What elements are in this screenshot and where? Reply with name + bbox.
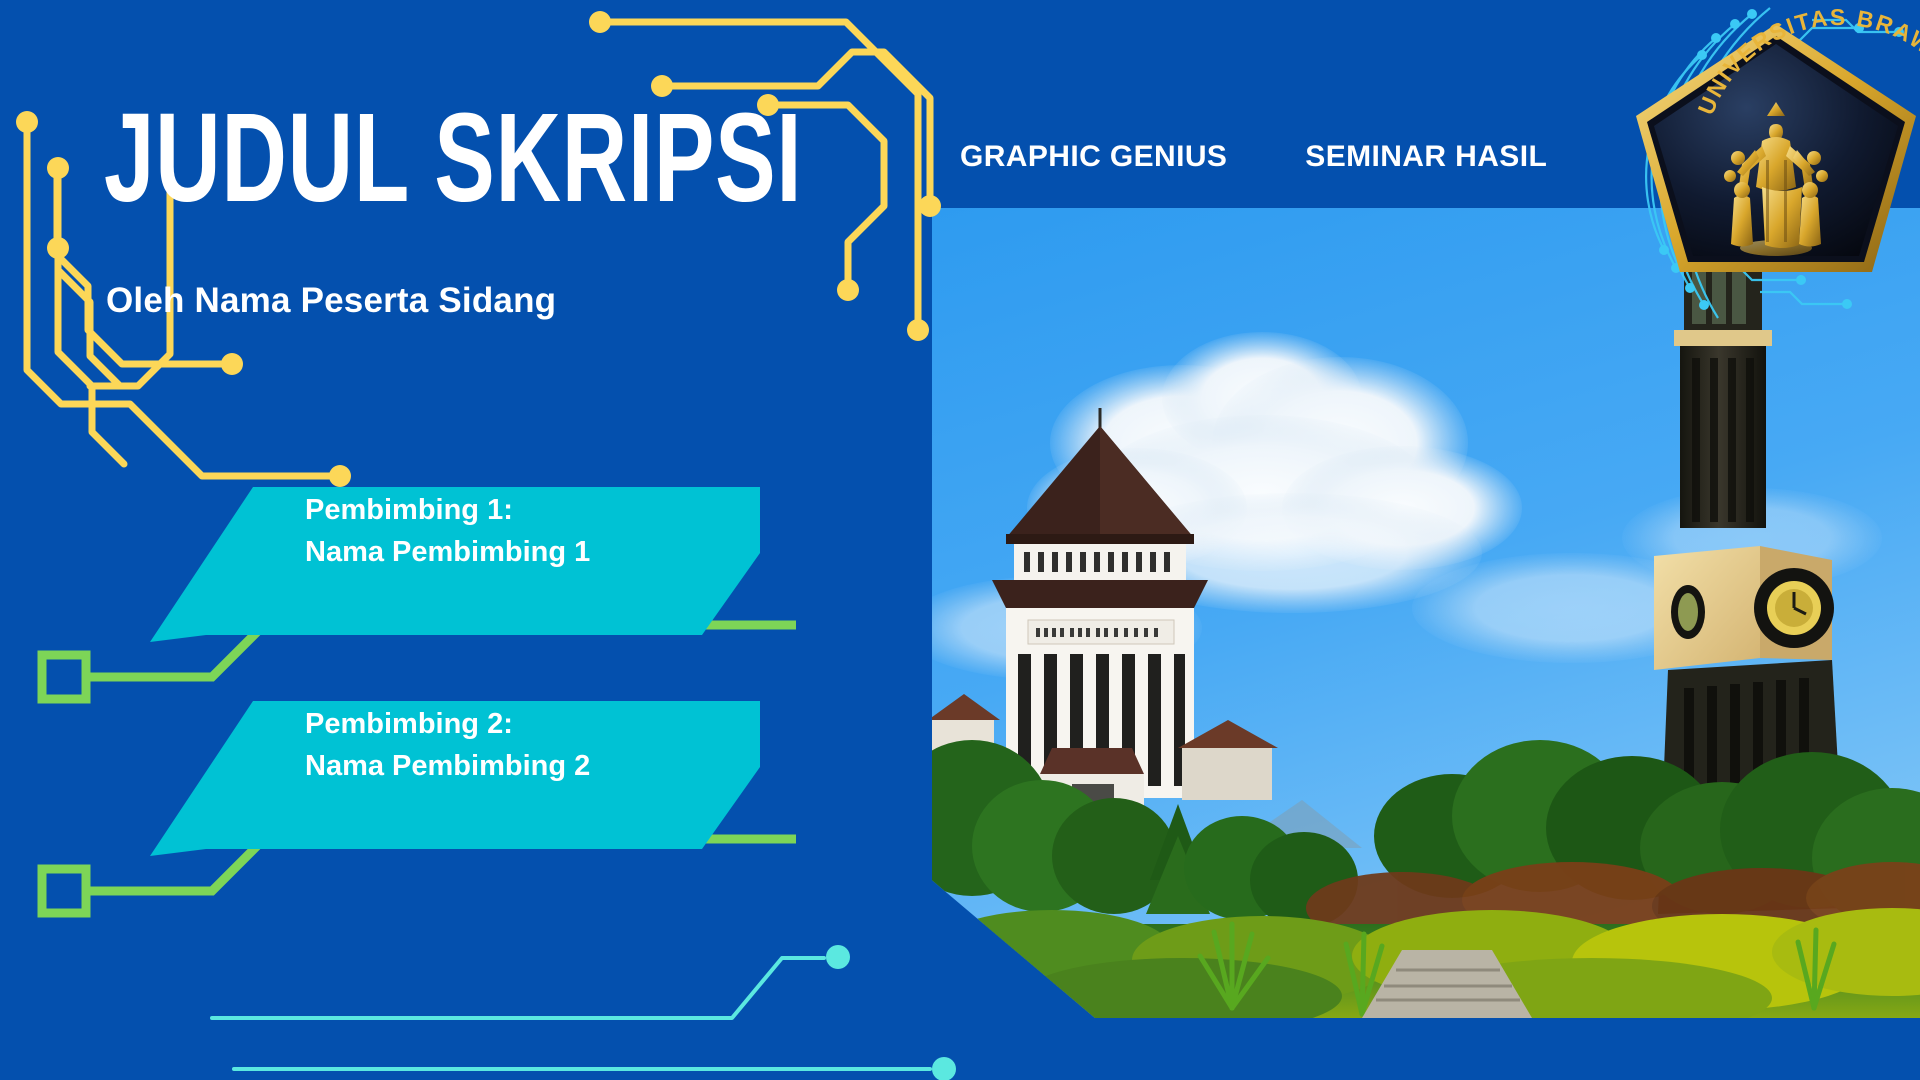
advisor-1-role: Pembimbing 1:	[305, 489, 590, 531]
advisor-2-name: Nama Pembimbing 2	[305, 745, 590, 787]
page-title: JUDUL SKRIPSI	[104, 100, 802, 216]
logo-arc-text: UNIVERSITAS BRAWIJAYA	[1693, 4, 1920, 118]
advisor-2-role: Pembimbing 2:	[305, 703, 590, 745]
header-labels: GRAPHIC GENIUS SEMINAR HASIL	[960, 140, 1547, 174]
campus-photo	[932, 208, 1920, 1018]
svg-text:UNIVERSITAS BRAWIJAYA: UNIVERSITAS BRAWIJAYA	[1693, 4, 1920, 118]
advisor-1-name: Nama Pembimbing 1	[305, 531, 590, 573]
advisor-2-text: Pembimbing 2: Nama Pembimbing 2	[305, 703, 590, 787]
advisor-1-text: Pembimbing 1: Nama Pembimbing 1	[305, 489, 590, 573]
circuit-dot-icon	[826, 945, 956, 1080]
header-label-graphic-genius: GRAPHIC GENIUS	[960, 140, 1227, 174]
page-subtitle: Oleh Nama Peserta Sidang	[106, 281, 556, 321]
presentation-slide: UNIVERSITAS BRAWIJAYA	[0, 0, 1920, 1080]
header-label-seminar-hasil: SEMINAR HASIL	[1305, 140, 1547, 174]
